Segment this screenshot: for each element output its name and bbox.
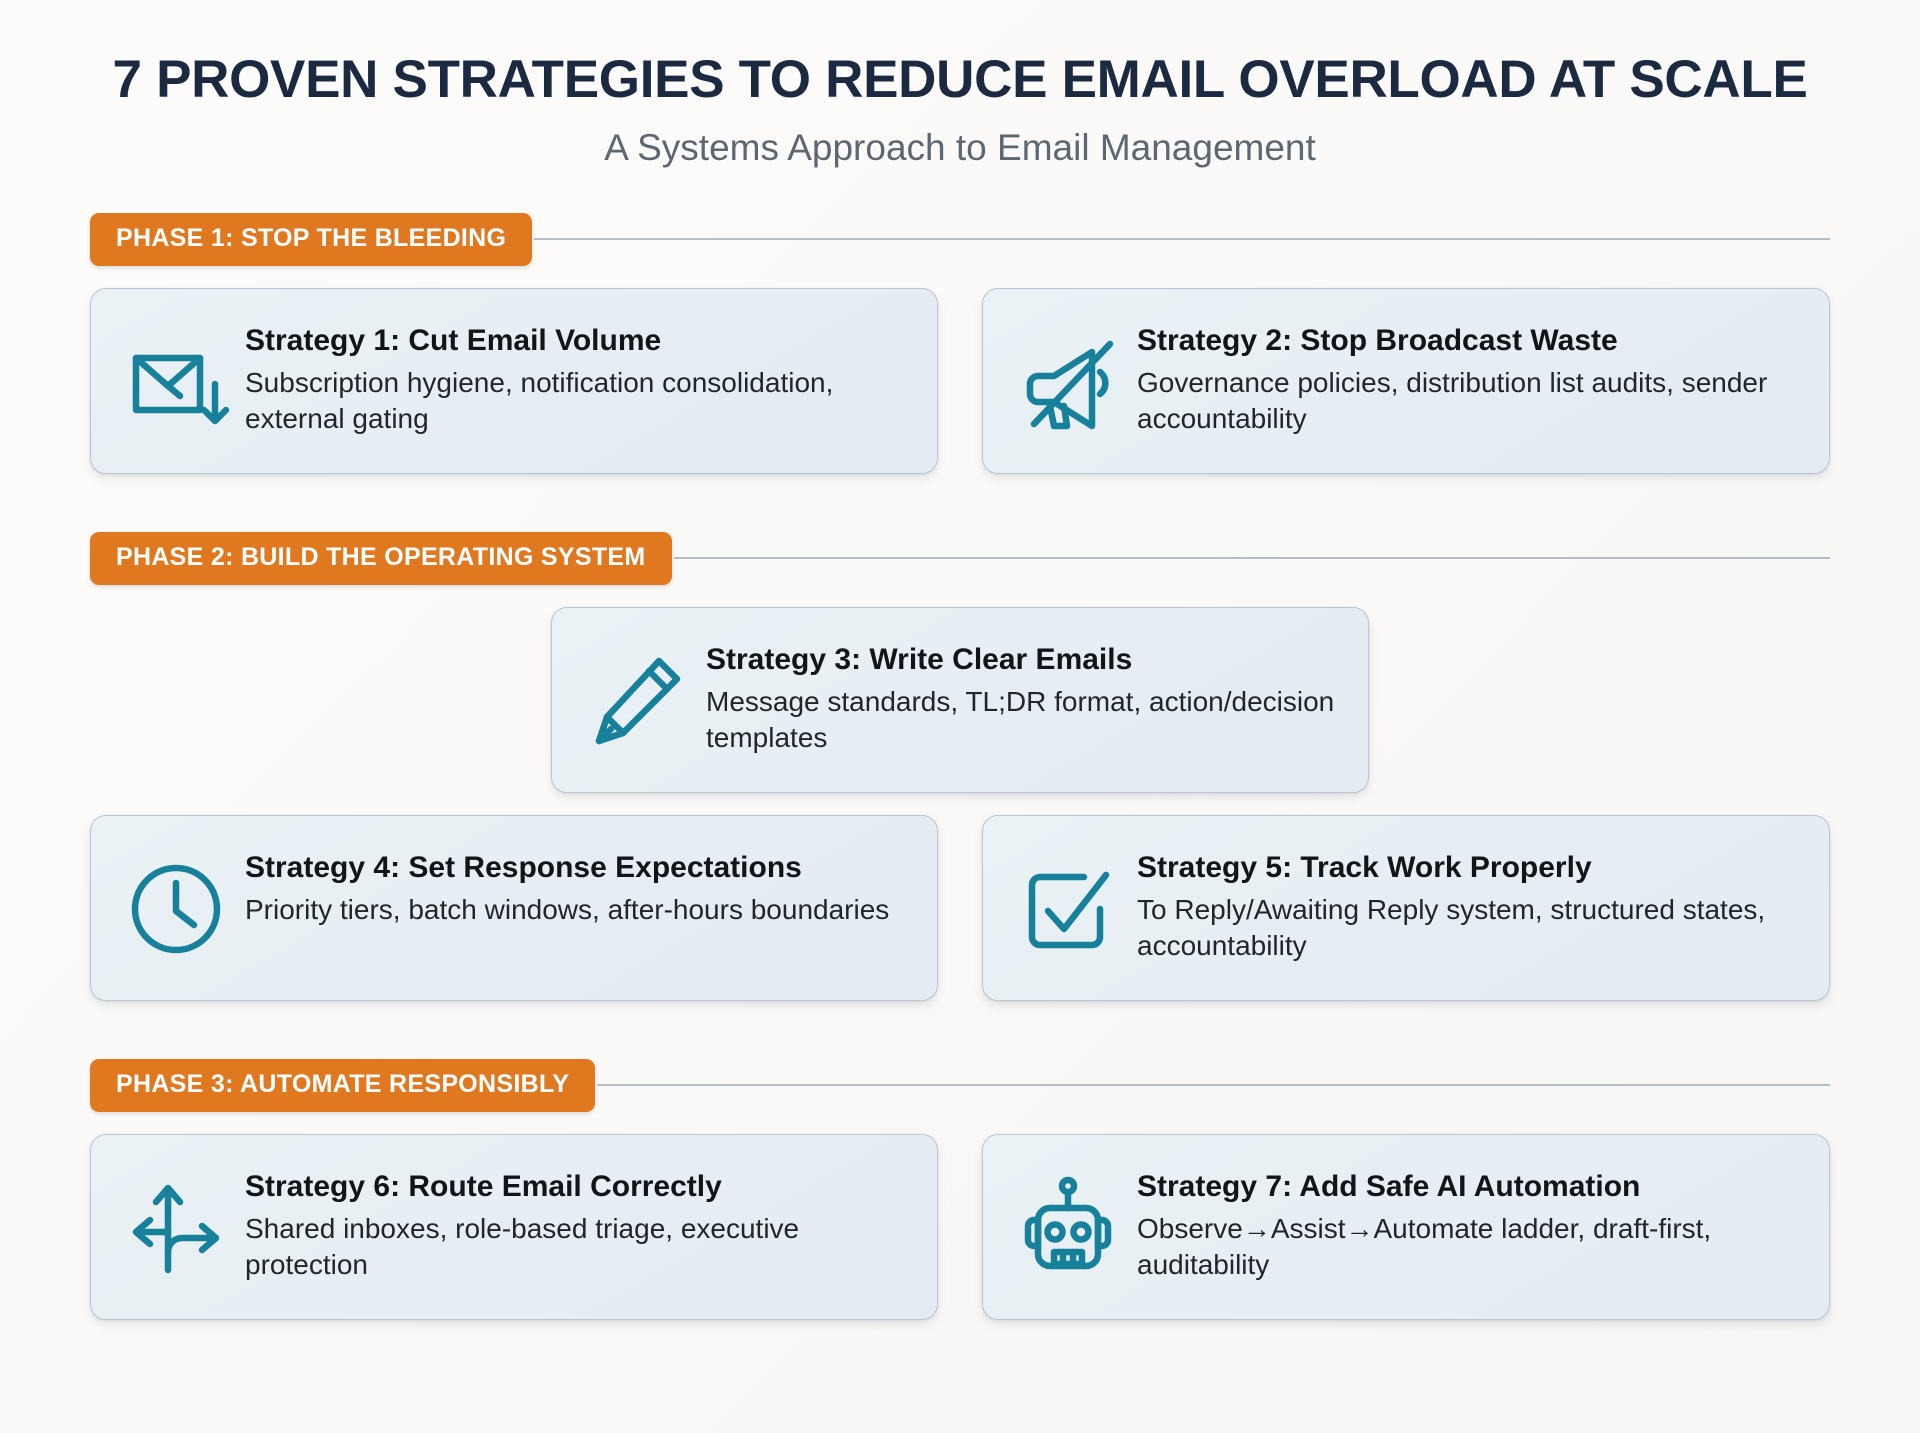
strategy-row-2: Strategy 3: Write Clear Emails Message s…: [90, 607, 1830, 793]
strategy-card-1-desc: Subscription hygiene, notification conso…: [245, 365, 907, 436]
phase-section-2: PHASE 2: BUILD THE OPERATING SYSTEM Stra…: [90, 532, 1830, 1001]
phase-section-3: PHASE 3: AUTOMATE RESPONSIBLY S: [90, 1059, 1830, 1320]
strategy-card-4-body: Strategy 4: Set Response Expectations Pr…: [245, 842, 907, 928]
phase-badge-1: PHASE 1: STOP THE BLEEDING: [90, 213, 532, 266]
header: 7 PROVEN STRATEGIES TO REDUCE EMAIL OVER…: [90, 0, 1830, 169]
strategy-card-1-title: Strategy 1: Cut Email Volume: [245, 323, 907, 358]
page-title: 7 PROVEN STRATEGIES TO REDUCE EMAIL OVER…: [90, 52, 1830, 108]
strategy-row-1: Strategy 1: Cut Email Volume Subscriptio…: [90, 288, 1830, 474]
strategy-card-5[interactable]: Strategy 5: Track Work Properly To Reply…: [982, 815, 1830, 1001]
strategy-card-7-desc: Observe→Assist→Automate ladder, draft-fi…: [1137, 1211, 1799, 1282]
strategy-card-3-title: Strategy 3: Write Clear Emails: [706, 642, 1338, 677]
phase-connector-line-2: [674, 557, 1830, 559]
strategy-card-5-title: Strategy 5: Track Work Properly: [1137, 850, 1799, 885]
checkbox-check-icon: [1009, 850, 1127, 968]
strategy-card-4[interactable]: Strategy 4: Set Response Expectations Pr…: [90, 815, 938, 1001]
phase-connector-line-3: [597, 1084, 1830, 1086]
route-arrows-icon: [117, 1169, 235, 1287]
strategy-card-2[interactable]: Strategy 2: Stop Broadcast Waste Governa…: [982, 288, 1830, 474]
phase-header-3: PHASE 3: AUTOMATE RESPONSIBLY: [90, 1059, 1830, 1112]
strategy-card-3[interactable]: Strategy 3: Write Clear Emails Message s…: [551, 607, 1369, 793]
phase-header-2: PHASE 2: BUILD THE OPERATING SYSTEM: [90, 532, 1830, 585]
strategy-card-7-body: Strategy 7: Add Safe AI Automation Obser…: [1137, 1161, 1799, 1282]
megaphone-muted-icon: [1009, 323, 1127, 441]
phase-badge-2: PHASE 2: BUILD THE OPERATING SYSTEM: [90, 532, 672, 585]
strategy-card-3-desc: Message standards, TL;DR format, action/…: [706, 684, 1338, 755]
strategy-row-4: Strategy 6: Route Email Correctly Shared…: [90, 1134, 1830, 1320]
page-subtitle: A Systems Approach to Email Management: [90, 128, 1830, 169]
phase-section-1: PHASE 1: STOP THE BLEEDING Strategy 1: C…: [90, 213, 1830, 474]
phase-badge-3: PHASE 3: AUTOMATE RESPONSIBLY: [90, 1059, 595, 1112]
strategy-card-1[interactable]: Strategy 1: Cut Email Volume Subscriptio…: [90, 288, 938, 474]
strategy-card-6-title: Strategy 6: Route Email Correctly: [245, 1169, 907, 1204]
strategy-card-6-body: Strategy 6: Route Email Correctly Shared…: [245, 1161, 907, 1282]
strategy-row-3: Strategy 4: Set Response Expectations Pr…: [90, 815, 1830, 1001]
strategy-card-2-body: Strategy 2: Stop Broadcast Waste Governa…: [1137, 315, 1799, 436]
strategy-card-7-title: Strategy 7: Add Safe AI Automation: [1137, 1169, 1799, 1204]
envelope-down-arrow-icon: [117, 323, 235, 441]
pencil-icon: [578, 642, 696, 760]
clock-icon: [117, 850, 235, 968]
strategy-card-7[interactable]: Strategy 7: Add Safe AI Automation Obser…: [982, 1134, 1830, 1320]
strategy-card-4-title: Strategy 4: Set Response Expectations: [245, 850, 907, 885]
phase-header-1: PHASE 1: STOP THE BLEEDING: [90, 213, 1830, 266]
phase-connector-line-1: [534, 238, 1830, 240]
strategy-card-6[interactable]: Strategy 6: Route Email Correctly Shared…: [90, 1134, 938, 1320]
strategy-card-4-desc: Priority tiers, batch windows, after-hou…: [245, 892, 907, 928]
strategy-card-2-title: Strategy 2: Stop Broadcast Waste: [1137, 323, 1799, 358]
robot-icon: [1009, 1169, 1127, 1287]
strategy-card-6-desc: Shared inboxes, role-based triage, execu…: [245, 1211, 907, 1282]
strategy-card-2-desc: Governance policies, distribution list a…: [1137, 365, 1799, 436]
strategy-card-5-desc: To Reply/Awaiting Reply system, structur…: [1137, 892, 1799, 963]
infographic-page: 7 PROVEN STRATEGIES TO REDUCE EMAIL OVER…: [0, 0, 1920, 1433]
strategy-card-3-body: Strategy 3: Write Clear Emails Message s…: [706, 634, 1338, 755]
strategy-card-5-body: Strategy 5: Track Work Properly To Reply…: [1137, 842, 1799, 963]
strategy-card-1-body: Strategy 1: Cut Email Volume Subscriptio…: [245, 315, 907, 436]
